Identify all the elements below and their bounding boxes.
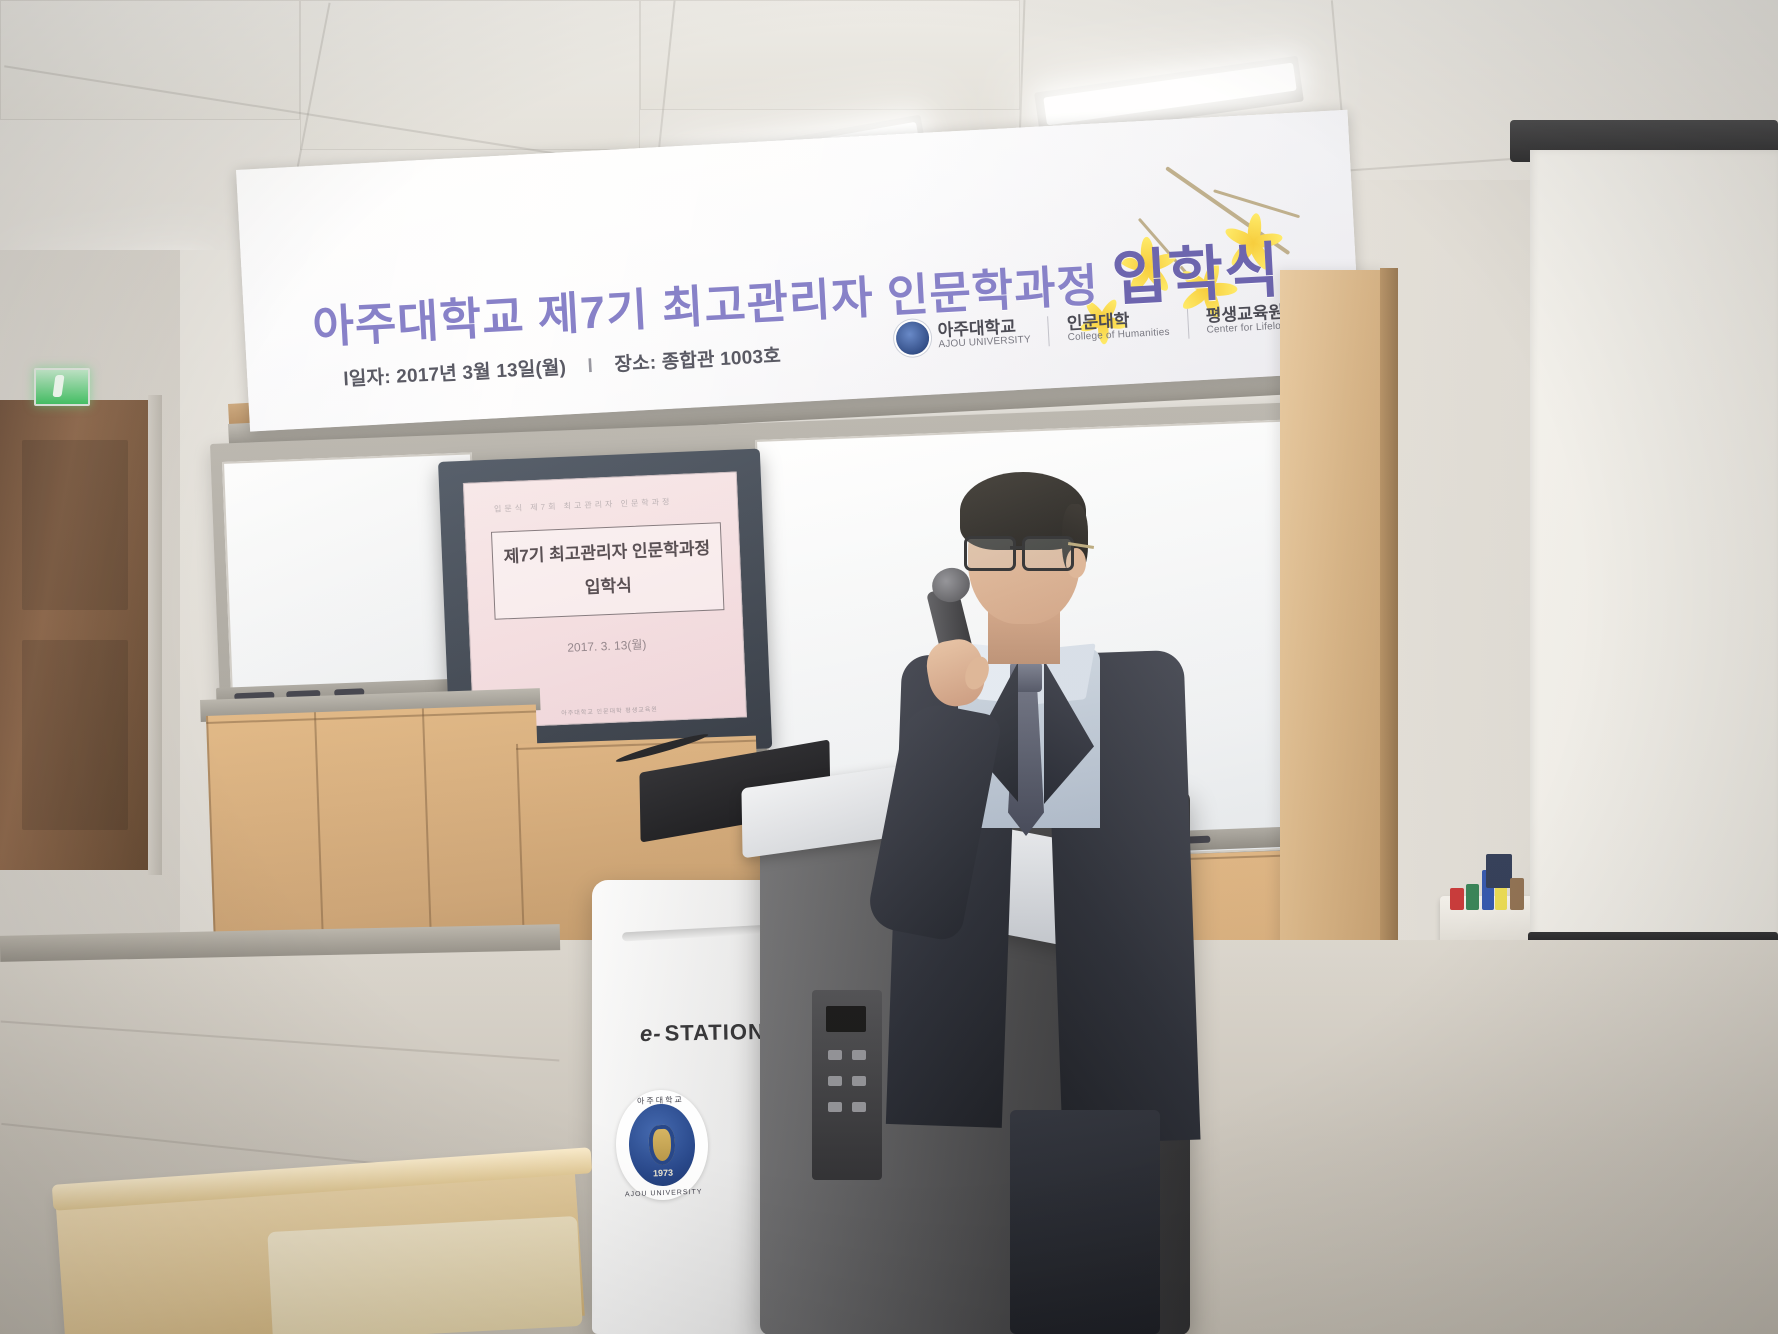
door[interactable] bbox=[0, 400, 154, 870]
seal-flame-icon bbox=[648, 1125, 675, 1166]
banner-place: 장소: 종합관 1003호 bbox=[614, 346, 782, 376]
trousers bbox=[1010, 1110, 1160, 1334]
slide-date: 2017. 3. 13(월) bbox=[470, 631, 744, 659]
logo-ajou-en: AJOU UNIVERSITY bbox=[938, 335, 1031, 350]
podium-seal-year: 1973 bbox=[630, 1167, 696, 1179]
logo-divider bbox=[1048, 316, 1051, 346]
logo-divider bbox=[1186, 308, 1189, 338]
podium-brand-e: e- bbox=[640, 1021, 662, 1046]
emergency-exit-sign-icon bbox=[34, 368, 90, 406]
slide-title-box: 제7기 최고관리자 인문학과정 입학식 bbox=[491, 522, 724, 620]
door-frame bbox=[148, 395, 162, 875]
foreground-chair bbox=[267, 1216, 582, 1334]
slide-line-2: 입학식 bbox=[494, 567, 723, 602]
banner-date: l일자: 2017년 3월 13일(월) bbox=[343, 357, 567, 390]
ajou-seal-icon bbox=[895, 321, 930, 356]
logo-humanities: 인문대학 College of Humanities bbox=[1067, 310, 1170, 344]
logo-ajou: 아주대학교 AJOU UNIVERSITY bbox=[937, 318, 1031, 351]
banner-separator: l bbox=[587, 356, 594, 377]
banner-title-highlight: 입학식 bbox=[1110, 237, 1282, 313]
speaker-person bbox=[880, 470, 1210, 1334]
slide-line-1: 제7기 최고관리자 인문학과정 bbox=[492, 533, 721, 568]
podium-brand-label: e-STATION bbox=[640, 1019, 765, 1047]
photo-scene: 아주대학교 제7기 최고관리자 인문학과정 입학식 l일자: 2017년 3월 … bbox=[0, 0, 1778, 1334]
projection-screen[interactable] bbox=[1530, 150, 1778, 940]
slide-header: 입문식 제7회 최고관리자 인문학과정 bbox=[494, 496, 673, 514]
lectern-control-panel[interactable] bbox=[812, 990, 882, 1180]
podium-brand-text: STATION bbox=[664, 1019, 765, 1046]
eyeglasses-icon bbox=[964, 536, 1084, 566]
